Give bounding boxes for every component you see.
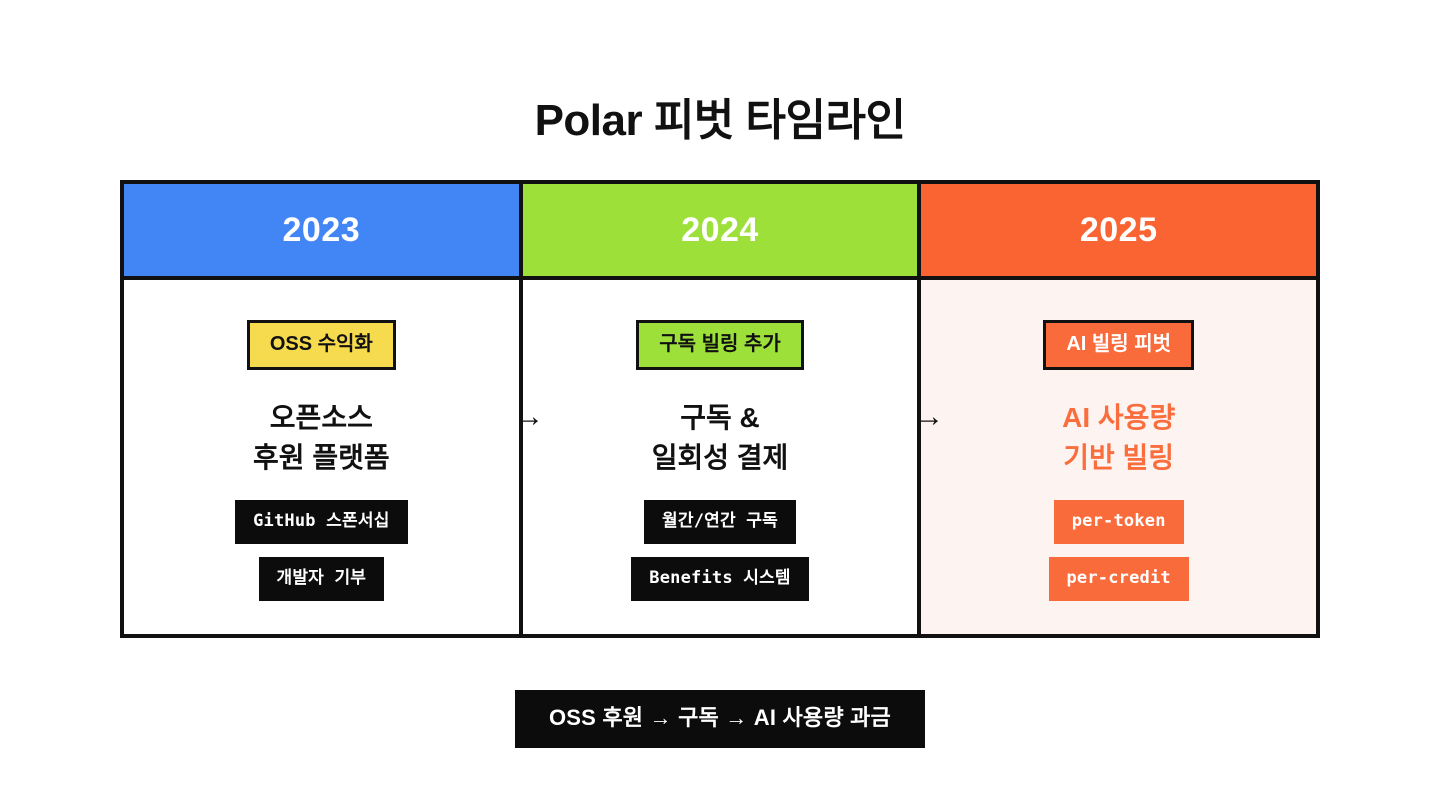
column-year-label: 2023 <box>283 213 361 247</box>
column-chips-2023: GitHub 스폰서십 개발자 기부 <box>235 500 407 601</box>
column-body-2023: OSS 수익화 오픈소스 후원 플랫폼 GitHub 스폰서십 개발자 기부 <box>124 280 519 634</box>
timeline-table: 2023 OSS 수익화 오픈소스 후원 플랫폼 GitHub 스폰서십 개발자… <box>120 180 1320 638</box>
column-badge-2024: 구독 빌링 추가 <box>636 320 804 370</box>
column-header-2023: 2023 <box>124 184 519 280</box>
column-header-2025: 2025 <box>921 184 1316 280</box>
column-headline-2024: 구독 & 일회성 결제 <box>652 398 789 478</box>
column-badge-2023: OSS 수익화 <box>247 320 396 370</box>
chip: per-credit <box>1049 557 1189 601</box>
column-year-label: 2025 <box>1080 213 1158 247</box>
timeline-column-2023: 2023 OSS 수익화 오픈소스 후원 플랫폼 GitHub 스폰서십 개발자… <box>124 184 523 634</box>
column-chips-2024: 월간/연간 구독 Benefits 시스템 <box>631 500 808 601</box>
diagram-canvas: Polar 피벗 타임라인 2023 OSS 수익화 오픈소스 후원 플랫폼 G… <box>0 0 1440 810</box>
page-title: Polar 피벗 타임라인 <box>0 95 1440 148</box>
column-badge-2025: AI 빌링 피벗 <box>1043 320 1194 370</box>
timeline-column-2025: 2025 AI 빌링 피벗 AI 사용량 기반 빌링 per-token per… <box>921 184 1316 634</box>
column-headline-2025: AI 사용량 기반 빌링 <box>1062 398 1175 478</box>
column-body-2024: 구독 빌링 추가 구독 & 일회성 결제 월간/연간 구독 Benefits 시… <box>523 280 918 634</box>
chip: per-token <box>1054 500 1184 544</box>
summary-banner: OSS 후원 → 구독 → AI 사용량 과금 <box>515 690 925 748</box>
chip: Benefits 시스템 <box>631 557 808 601</box>
column-headline-2023: 오픈소스 후원 플랫폼 <box>253 398 390 478</box>
chip: 개발자 기부 <box>259 557 385 601</box>
timeline-column-2024: 2024 구독 빌링 추가 구독 & 일회성 결제 월간/연간 구독 Benef… <box>523 184 922 634</box>
column-year-label: 2024 <box>681 213 759 247</box>
column-header-2024: 2024 <box>523 184 918 280</box>
arrow-right-icon: → <box>509 400 549 434</box>
column-chips-2025: per-token per-credit <box>1049 500 1189 601</box>
arrow-right-icon: → <box>909 400 949 434</box>
chip: 월간/연간 구독 <box>644 500 796 544</box>
chip: GitHub 스폰서십 <box>235 500 407 544</box>
column-body-2025: AI 빌링 피벗 AI 사용량 기반 빌링 per-token per-cred… <box>921 280 1316 634</box>
